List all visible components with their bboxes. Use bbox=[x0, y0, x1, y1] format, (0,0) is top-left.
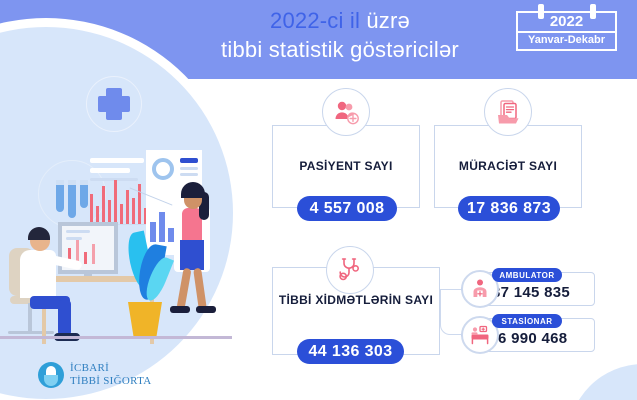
test-tube-icon bbox=[68, 184, 76, 218]
stethoscope-icon bbox=[326, 246, 374, 294]
page-title-line1-rest: üzrə bbox=[360, 8, 410, 33]
stat-card-services-label: TİBBİ XİDMƏTLƏRİN SAYI bbox=[273, 293, 439, 308]
report-line bbox=[180, 158, 198, 163]
documents-folder-icon bbox=[484, 88, 532, 136]
doctor-female-skirt bbox=[180, 240, 204, 270]
test-tube-icon bbox=[56, 184, 64, 212]
test-tube-cap-icon bbox=[56, 180, 64, 185]
illustration-line bbox=[90, 158, 144, 163]
plant-pot bbox=[128, 302, 162, 336]
page-title-year: 2022-ci il bbox=[270, 8, 360, 33]
doctor-male-hair bbox=[28, 227, 50, 240]
medical-cross-icon-bar bbox=[98, 96, 130, 112]
report-line bbox=[180, 167, 198, 170]
test-tube-cap-icon bbox=[68, 180, 76, 185]
calendar-range: Yanvar-Dekabr bbox=[516, 34, 617, 46]
stat-card-requests-label: MÜRACİƏT SAYI bbox=[435, 159, 581, 174]
calendar-badge: 2022 Yanvar-Dekabr bbox=[516, 4, 619, 52]
stat-card-requests-value: 17 836 873 bbox=[458, 196, 560, 221]
logo-line2: TİBBİ SIĞORTA bbox=[70, 375, 152, 388]
stat-card-patients-value: 4 557 008 bbox=[297, 196, 397, 221]
infographic-canvas: 2022-ci il üzrə tibbi statistik göstəric… bbox=[0, 0, 637, 400]
floor-line bbox=[0, 336, 232, 339]
test-tube-icon bbox=[80, 184, 88, 208]
subcard-ambulator-value: 37 145 835 bbox=[492, 284, 570, 301]
subcard-stasionar-value: 6 990 468 bbox=[498, 330, 567, 347]
report-line bbox=[180, 173, 198, 176]
doctor-male-shin bbox=[58, 300, 71, 336]
illustration-line bbox=[90, 168, 130, 173]
calendar-divider bbox=[516, 31, 617, 33]
insurance-drop-icon bbox=[38, 362, 64, 388]
doctor-female-leg bbox=[193, 268, 207, 311]
donut-chart-icon bbox=[152, 158, 174, 180]
red-bar-chart bbox=[90, 178, 152, 224]
stat-card-services-value: 44 136 303 bbox=[297, 339, 404, 364]
office-chair-base bbox=[8, 331, 54, 334]
calendar-year: 2022 bbox=[516, 13, 617, 30]
connector-stasionar bbox=[440, 289, 464, 335]
corner-decoration-circle bbox=[568, 364, 637, 400]
logo: İCBARİ TİBBİ SIĞORTA bbox=[38, 360, 188, 392]
logo-text: İCBARİ TİBBİ SIĞORTA bbox=[70, 362, 152, 388]
doctor-female-shoe bbox=[196, 306, 216, 313]
patient-add-icon bbox=[322, 88, 370, 136]
doctor-female-leg bbox=[176, 268, 191, 311]
test-tube-cap-icon bbox=[80, 180, 88, 185]
subcard-ambulator-tag: AMBULATOR bbox=[492, 268, 562, 282]
subcard-stasionar-tag: STASİONAR bbox=[492, 314, 562, 328]
logo-line1: İCBARİ bbox=[70, 362, 152, 375]
illustration: İCBARİ TİBBİ SIĞORTA bbox=[0, 0, 260, 400]
stat-card-patients-label: PASİYENT SAYI bbox=[273, 159, 419, 174]
doctor-female-shoe bbox=[170, 306, 190, 313]
